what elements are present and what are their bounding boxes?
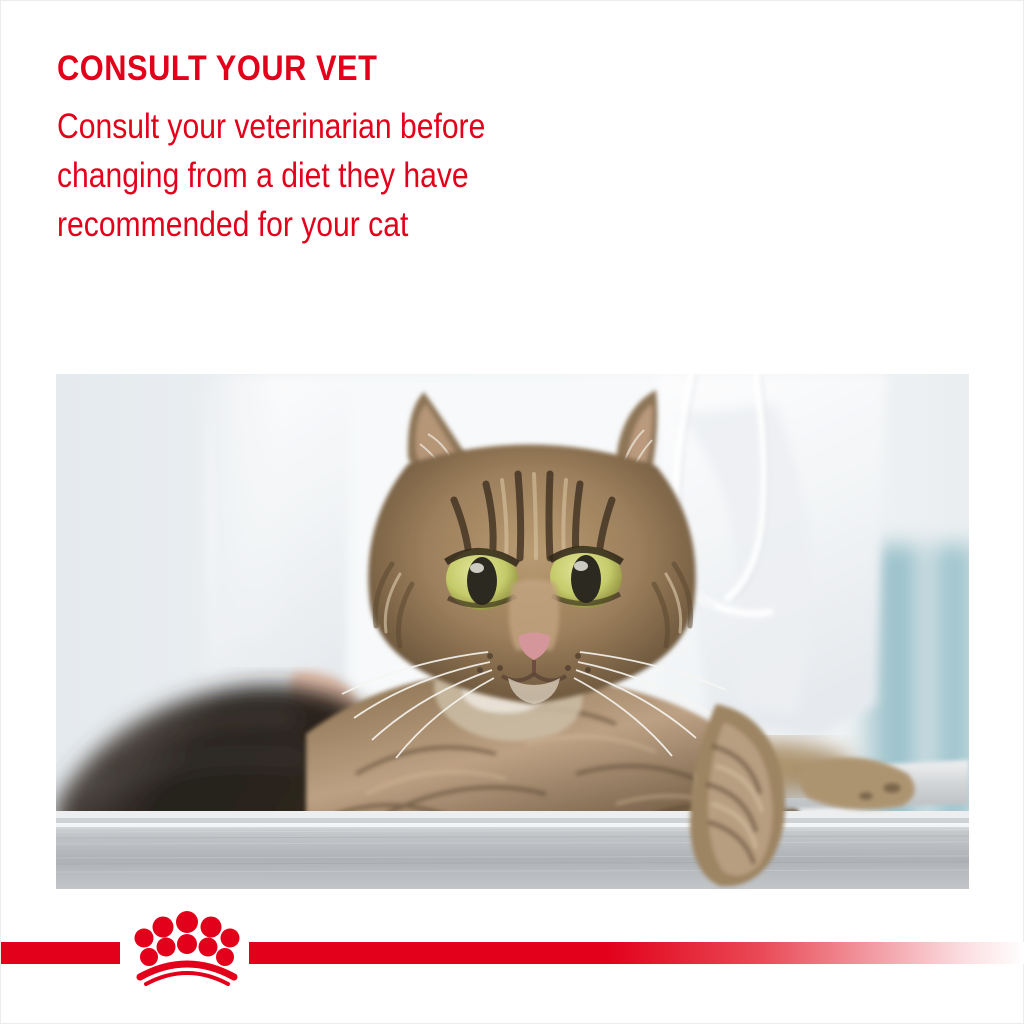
royal-canin-crown-logo [132,907,242,987]
body-line: changing from a diet they have [57,151,642,200]
vet-and-cat-photo [56,374,969,889]
promo-card: CONSULT YOUR VET Consult your veterinari… [0,0,1024,1024]
footer [1,901,1024,1001]
page-title: CONSULT YOUR VET [57,49,655,89]
footer-rule-right [249,942,1024,964]
crown-icon [132,907,242,987]
text-block: CONSULT YOUR VET Consult your veterinari… [57,49,737,249]
body-line: Consult your veterinarian before [57,102,642,151]
photo-illustration [56,374,969,889]
body-line: recommended for your cat [57,200,642,249]
footer-rule-left [1,942,120,964]
body-copy: Consult your veterinarian before changin… [57,102,642,249]
